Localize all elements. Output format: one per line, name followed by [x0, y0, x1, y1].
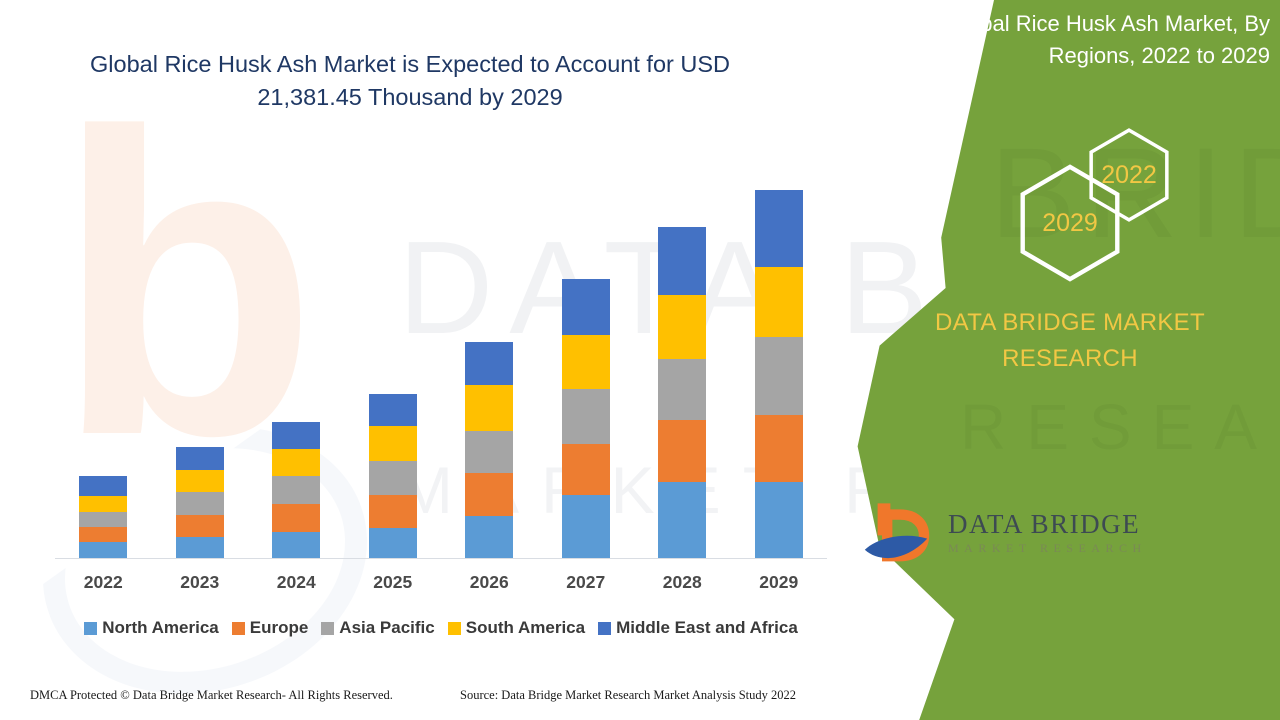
legend-swatch-icon: [448, 622, 461, 635]
legend-label: Asia Pacific: [339, 618, 434, 638]
legend-item[interactable]: North America: [84, 618, 219, 638]
x-axis-label: 2023: [152, 572, 248, 593]
panel-brand-line2: RESEARCH: [1002, 345, 1138, 372]
panel-brand: DATA BRIDGE MARKET RESEARCH: [860, 305, 1280, 377]
bar-segment-south-america: [562, 335, 610, 389]
legend-label: Europe: [250, 618, 309, 638]
bar-segment-asia-pacific: [658, 359, 706, 419]
data-bridge-logo: DATA BRIDGE MARKET RESEARCH: [860, 495, 1280, 585]
bar-segment-europe: [176, 515, 224, 537]
x-axis-tick-labels: 20222023202420252026202720282029: [55, 572, 827, 593]
logo-title: DATA BRIDGE: [948, 509, 1147, 540]
hexagon-2022: 2022: [1085, 126, 1173, 224]
bar-group: [441, 160, 537, 558]
bar-segment-middle-east-and-africa: [272, 422, 320, 449]
bar-group: [55, 160, 151, 558]
stacked-bar-series-area: [55, 160, 827, 558]
x-axis-label: 2025: [345, 572, 441, 593]
bar-segment-asia-pacific: [755, 337, 803, 415]
logo-wordmark: DATA BRIDGE MARKET RESEARCH: [948, 509, 1147, 556]
bar-segment-europe: [272, 504, 320, 532]
stacked-bar: [369, 394, 417, 558]
legend-swatch-icon: [321, 622, 334, 635]
x-axis-label: 2026: [441, 572, 537, 593]
bar-segment-south-america: [79, 496, 127, 512]
bar-segment-north-america: [658, 482, 706, 558]
bar-segment-europe: [369, 495, 417, 528]
bar-group: [634, 160, 730, 558]
bar-segment-middle-east-and-africa: [658, 227, 706, 295]
legend-swatch-icon: [232, 622, 245, 635]
bar-group: [152, 160, 248, 558]
x-axis-label: 2028: [634, 572, 730, 593]
bar-segment-south-america: [369, 426, 417, 461]
bar-segment-asia-pacific: [465, 431, 513, 473]
x-axis-label: 2027: [538, 572, 634, 593]
bar-segment-north-america: [79, 542, 127, 558]
bar-segment-south-america: [658, 295, 706, 359]
bar-group: [345, 160, 441, 558]
legend-item[interactable]: South America: [448, 618, 585, 638]
bar-group: [538, 160, 634, 558]
data-bridge-b-swoosh-logo-icon: [860, 497, 940, 577]
stacked-bar: [272, 422, 320, 558]
x-axis-label: 2022: [55, 572, 151, 593]
chart-canvas: b DATA BRIDGE MARKET RESEARCH Global Ric…: [0, 0, 1280, 720]
legend-swatch-icon: [598, 622, 611, 635]
footer-source: Source: Data Bridge Market Research Mark…: [460, 688, 796, 703]
legend-label: South America: [466, 618, 585, 638]
bar-segment-asia-pacific: [79, 512, 127, 527]
legend-item[interactable]: Europe: [232, 618, 309, 638]
logo-subtitle: MARKET RESEARCH: [948, 541, 1147, 556]
bar-segment-south-america: [755, 267, 803, 337]
bar-segment-middle-east-and-africa: [79, 476, 127, 495]
x-axis-line: [55, 558, 827, 559]
stacked-bar: [755, 190, 803, 558]
panel-title: Global Rice Husk Ash Market, By Regions,…: [870, 8, 1270, 72]
green-side-panel: BRIDGE RESEARCH Global Rice Husk Ash Mar…: [840, 0, 1280, 720]
x-axis-label: 2029: [731, 572, 827, 593]
hexagon-badges: 2029 2022: [840, 130, 1280, 290]
bar-segment-europe: [562, 444, 610, 495]
bar-segment-north-america: [176, 537, 224, 558]
bar-segment-europe: [465, 473, 513, 516]
footer-copyright: DMCA Protected © Data Bridge Market Rese…: [30, 688, 393, 703]
chart-title: Global Rice Husk Ash Market is Expected …: [60, 48, 760, 115]
stacked-bar: [658, 227, 706, 558]
bar-segment-middle-east-and-africa: [755, 190, 803, 268]
stacked-bar: [176, 447, 224, 558]
bar-group: [731, 160, 827, 558]
bar-segment-north-america: [755, 482, 803, 558]
bar-segment-north-america: [272, 532, 320, 558]
legend-item[interactable]: Asia Pacific: [321, 618, 434, 638]
bar-segment-asia-pacific: [369, 461, 417, 495]
bar-segment-middle-east-and-africa: [369, 394, 417, 426]
legend-item[interactable]: Middle East and Africa: [598, 618, 798, 638]
bar-segment-europe: [79, 527, 127, 543]
bar-group: [248, 160, 344, 558]
bar-segment-middle-east-and-africa: [562, 279, 610, 335]
stacked-bar: [562, 279, 610, 558]
bar-segment-north-america: [562, 495, 610, 558]
bar-segment-middle-east-and-africa: [176, 447, 224, 469]
bar-segment-asia-pacific: [272, 476, 320, 504]
bar-segment-asia-pacific: [562, 389, 610, 444]
legend-label: Middle East and Africa: [616, 618, 798, 638]
x-axis-label: 2024: [248, 572, 344, 593]
legend-swatch-icon: [84, 622, 97, 635]
chart-legend: North AmericaEuropeAsia PacificSouth Ame…: [55, 618, 827, 638]
bar-segment-north-america: [369, 528, 417, 558]
bar-segment-middle-east-and-africa: [465, 342, 513, 386]
bar-segment-europe: [755, 415, 803, 483]
stacked-bar: [79, 476, 127, 558]
bar-segment-asia-pacific: [176, 492, 224, 515]
bar-segment-south-america: [176, 470, 224, 493]
bar-segment-north-america: [465, 516, 513, 558]
stacked-bar: [465, 342, 513, 558]
bar-segment-europe: [658, 420, 706, 483]
bar-segment-south-america: [272, 449, 320, 476]
hexagon-2022-label: 2022: [1085, 126, 1173, 224]
panel-brand-line1: DATA BRIDGE MARKET: [935, 309, 1205, 336]
bar-segment-south-america: [465, 385, 513, 431]
legend-label: North America: [102, 618, 219, 638]
